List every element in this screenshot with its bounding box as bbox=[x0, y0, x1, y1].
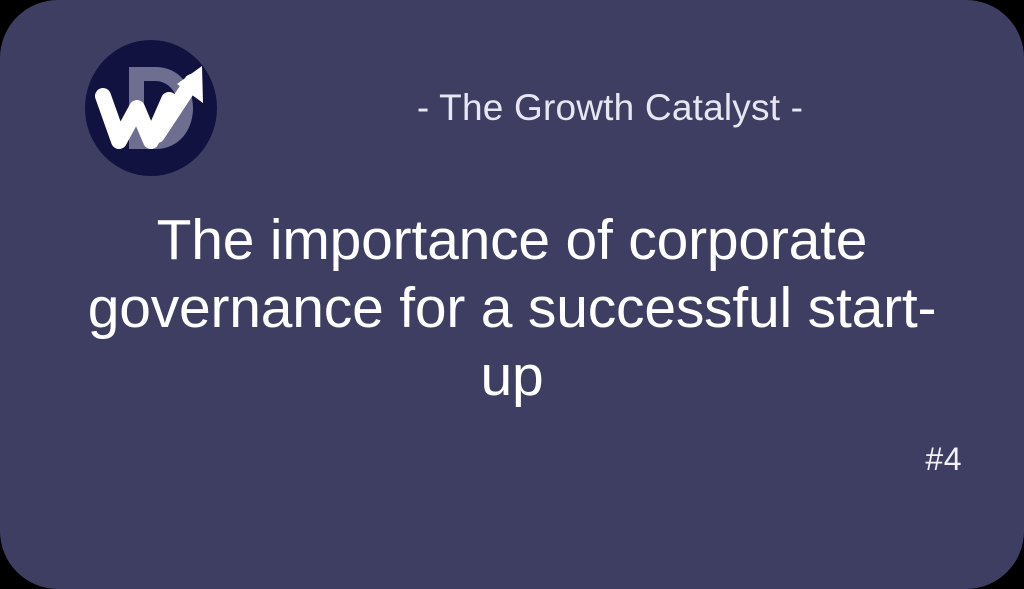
newsletter-card: - The Growth Catalyst - The importance o… bbox=[0, 0, 1024, 589]
issue-number-badge: #4 bbox=[925, 441, 962, 478]
brand-tagline: - The Growth Catalyst - bbox=[240, 40, 980, 176]
growth-arrow-w-logo-icon bbox=[85, 40, 217, 176]
page-title: The importance of corporate governance f… bbox=[62, 206, 962, 410]
card-header: - The Growth Catalyst - bbox=[0, 40, 1024, 176]
